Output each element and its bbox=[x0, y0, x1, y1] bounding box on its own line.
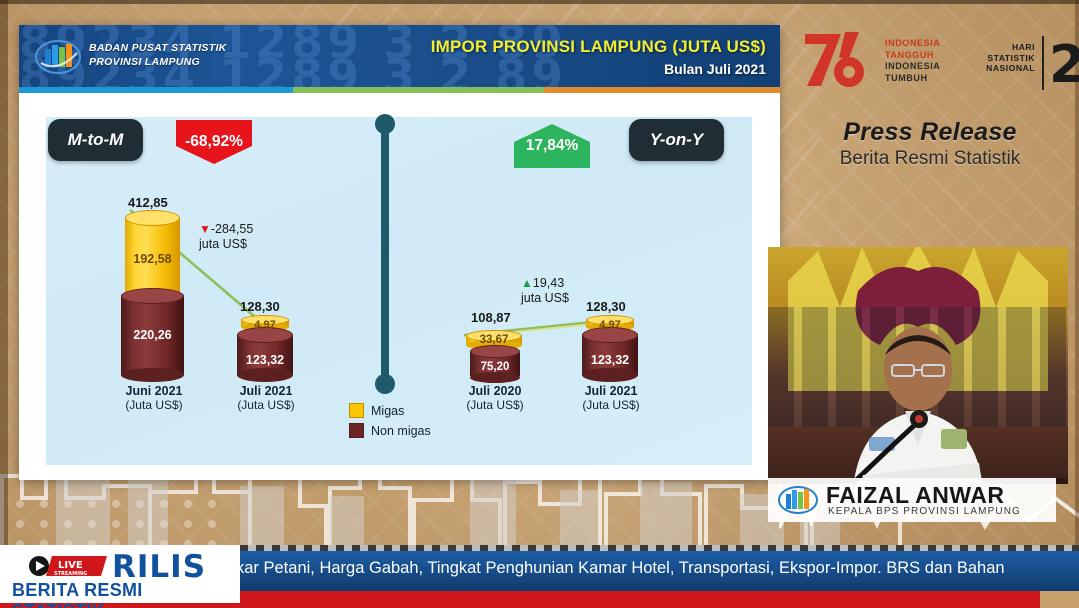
bar-value-nonmigas-juli-2021-right: 123,32 bbox=[582, 353, 638, 367]
press-release-subtitle: Berita Resmi Statistik bbox=[800, 148, 1060, 170]
bar-top-ellipse bbox=[125, 210, 180, 226]
top-edge-shade bbox=[0, 0, 1079, 4]
down-triangle-icon: ▼ bbox=[199, 222, 211, 236]
bar-value-nonmigas-juni-2021: 220,26 bbox=[121, 328, 184, 342]
bps-logo-icon bbox=[778, 485, 818, 515]
category-label-juli-2021-right: Juli 2021 (Juta US$) bbox=[563, 384, 659, 412]
bar-total-juli-2021-right: 128,30 bbox=[586, 299, 626, 314]
hsn-line2: STATISTIK bbox=[973, 53, 1035, 64]
stripe-green bbox=[293, 87, 544, 93]
ticker-text: kar Petani, Harga Gabah, Tingkat Penghun… bbox=[236, 559, 1005, 578]
bar-bottom-ellipse bbox=[470, 372, 520, 383]
category-name: Juni 2021 bbox=[106, 384, 202, 398]
panel-divider bbox=[381, 122, 389, 386]
ticker-accent-bar-end bbox=[1040, 591, 1079, 608]
delta-left-value: -284,55 bbox=[211, 222, 253, 236]
org-line-2: PROVINSI LAMPUNG bbox=[89, 55, 227, 69]
bar-total-juli-2020: 108,87 bbox=[471, 310, 511, 325]
bar-value-migas-juli-2021-right: 4,97 bbox=[586, 319, 634, 331]
bar-value-migas-juli-2021-left: 4,97 bbox=[241, 319, 289, 331]
bar-value-nonmigas-juli-2021-left: 123,32 bbox=[237, 353, 293, 367]
press-release-title: Press Release bbox=[800, 118, 1060, 147]
category-label-juni-2021: Juni 2021 (Juta US$) bbox=[106, 384, 202, 412]
logo76-line4: TUMBUH bbox=[885, 73, 940, 85]
speaker-role: KEPALA BPS PROVINSI LAMPUNG bbox=[828, 506, 1021, 517]
hsn-text: HARI STATISTIK NASIONAL bbox=[973, 42, 1035, 74]
logo-76th-text: INDONESIA TANGGUH INDONESIA TUMBUH bbox=[885, 38, 940, 84]
logo76-line2: TANGGUH bbox=[885, 50, 940, 62]
up-triangle-icon: ▲ bbox=[521, 276, 533, 290]
category-unit: (Juta US$) bbox=[466, 398, 523, 412]
delta-left-line1: ▼-284,55 bbox=[199, 222, 253, 237]
video-feed[interactable] bbox=[768, 247, 1068, 484]
screen: 89234 1289 3 2 89 89234 1289 3 2 89 BADA… bbox=[0, 0, 1079, 608]
bar-top-ellipse bbox=[121, 288, 184, 304]
slide-header: 89234 1289 3 2 89 89234 1289 3 2 89 BADA… bbox=[19, 25, 780, 87]
category-unit: (Juta US$) bbox=[237, 398, 294, 412]
bar-total-juli-2021-left: 128,30 bbox=[240, 299, 280, 314]
logo76-line1: INDONESIA bbox=[885, 38, 940, 50]
svg-text:26: 26 bbox=[1049, 35, 1079, 94]
hsn-line1: HARI bbox=[973, 42, 1035, 53]
delta-right-value: 19,43 bbox=[533, 276, 564, 290]
stripe-orange bbox=[544, 87, 780, 93]
change-flag-up-label: 17,84% bbox=[526, 137, 579, 155]
bar-value-migas-juli-2020: 33,67 bbox=[466, 334, 522, 346]
legend-label-migas: Migas bbox=[371, 404, 404, 418]
category-name: Juli 2020 bbox=[447, 384, 543, 398]
logo76-line3: INDONESIA bbox=[885, 61, 940, 73]
slide-title: IMPOR PROVINSI LAMPUNG (JUTA US$) bbox=[431, 37, 766, 57]
hsn-line3: NASIONAL bbox=[973, 63, 1035, 74]
bar-bottom-ellipse bbox=[582, 368, 638, 382]
bar-value-nonmigas-juli-2020: 75,20 bbox=[470, 361, 520, 373]
change-flag-up: 17,84% bbox=[514, 124, 590, 168]
left-edge-shade bbox=[0, 0, 8, 608]
slide-org-name: BADAN PUSAT STATISTIK PROVINSI LAMPUNG bbox=[89, 41, 227, 69]
category-label-juli-2021-left: Juli 2021 (Juta US$) bbox=[218, 384, 314, 412]
bar-top-ellipse bbox=[470, 345, 520, 358]
anniversary-logos: INDONESIA TANGGUH INDONESIA TUMBUH HARI … bbox=[795, 22, 1075, 98]
change-flag-down-label: -68,92% bbox=[185, 133, 243, 151]
bar-bottom-ellipse bbox=[121, 368, 184, 382]
speaker-figure bbox=[793, 325, 1043, 484]
speaker-name: FAIZAL ANWAR bbox=[826, 482, 1005, 509]
delta-left-unit: juta US$ bbox=[199, 237, 253, 252]
change-flag-down: -68,92% bbox=[176, 120, 252, 164]
press-release-heading: Press Release Berita Resmi Statistik bbox=[800, 118, 1060, 170]
legend-item-nonmigas: Non migas bbox=[349, 423, 431, 438]
bar-migas-juli-2021-right: 4,97 bbox=[586, 315, 634, 331]
bar-value-migas-juni-2021: 192,58 bbox=[125, 252, 180, 266]
ticker-brand-subtitle: BERITA RESMI STATISTIK bbox=[12, 580, 240, 608]
delta-right: ▲19,43 juta US$ bbox=[521, 276, 569, 306]
legend-label-nonmigas: Non migas bbox=[371, 424, 431, 438]
svg-text:STREAMING: STREAMING bbox=[54, 571, 87, 577]
svg-text:LIVE: LIVE bbox=[58, 560, 83, 571]
delta-right-line1: ▲19,43 bbox=[521, 276, 569, 291]
stripe-blue bbox=[19, 87, 293, 93]
category-unit: (Juta US$) bbox=[125, 398, 182, 412]
badge-y-on-y: Y-on-Y bbox=[629, 119, 724, 161]
live-streaming-badge-icon: LIVE STREAMING bbox=[28, 555, 108, 577]
bar-nonmigas-juli-2021-right: 123,32 bbox=[582, 327, 638, 382]
category-label-juli-2020: Juli 2020 (Juta US$) bbox=[447, 384, 543, 412]
delta-right-unit: juta US$ bbox=[521, 291, 569, 306]
bar-migas-juli-2021-left: 4,97 bbox=[241, 315, 289, 331]
bar-nonmigas-juni-2021: 220,26 bbox=[121, 288, 184, 382]
chart-legend: Migas Non migas bbox=[349, 403, 431, 443]
org-line-1: BADAN PUSAT STATISTIK bbox=[89, 41, 227, 55]
legend-swatch-nonmigas bbox=[349, 423, 364, 438]
bar-nonmigas-juli-2021-left: 123,32 bbox=[237, 327, 293, 382]
legend-swatch-migas bbox=[349, 403, 364, 418]
lower-third-nameplate: FAIZAL ANWAR KEPALA BPS PROVINSI LAMPUNG bbox=[768, 478, 1056, 522]
bar-bottom-ellipse bbox=[237, 368, 293, 382]
header-color-stripe bbox=[19, 87, 780, 93]
news-ticker: kar Petani, Harga Gabah, Tingkat Penghun… bbox=[0, 545, 1079, 608]
logo-hsn-26-icon: 26 bbox=[1041, 32, 1079, 94]
bps-logo-icon bbox=[35, 39, 81, 75]
category-name: Juli 2021 bbox=[563, 384, 659, 398]
bar-total-juni-2021: 412,85 bbox=[128, 195, 168, 210]
ticker-brand-block: LIVE STREAMING RILIS BERITA RESMI STATIS… bbox=[0, 545, 240, 603]
slide-subtitle: Bulan Juli 2021 bbox=[664, 61, 766, 77]
category-unit: (Juta US$) bbox=[582, 398, 639, 412]
delta-left: ▼-284,55 juta US$ bbox=[199, 222, 253, 252]
badge-m-to-m: M-to-M bbox=[48, 119, 143, 161]
category-name: Juli 2021 bbox=[218, 384, 314, 398]
legend-item-migas: Migas bbox=[349, 403, 431, 418]
bar-nonmigas-juli-2020: 75,20 bbox=[470, 345, 520, 383]
logo-76th-indonesia-icon bbox=[801, 28, 881, 90]
